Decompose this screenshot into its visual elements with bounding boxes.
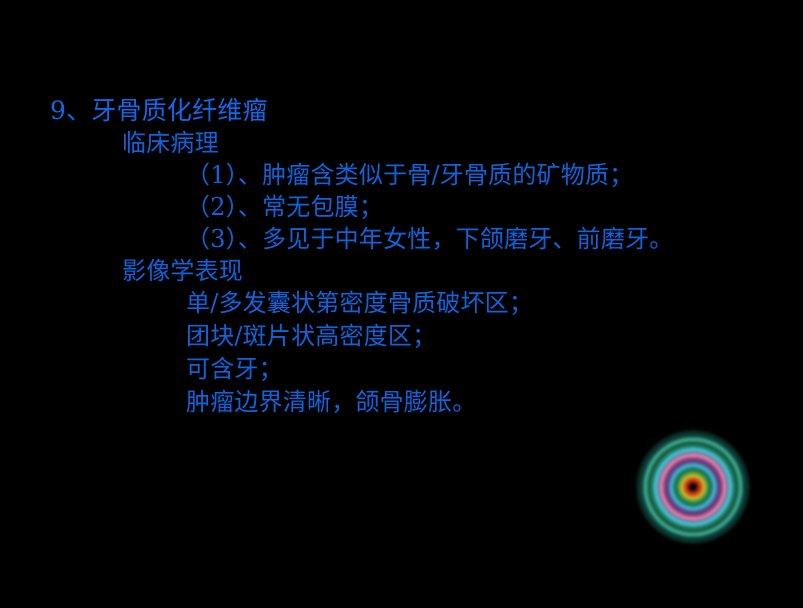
concentric-rings-image — [612, 406, 773, 568]
imaging-finding-3: 可含牙； — [186, 357, 803, 390]
clinical-item-3: （3）、多见于中年女性，下颌磨牙、前磨牙。 — [186, 227, 803, 259]
imaging-finding-2: 团块/斑片状高密度区； — [186, 324, 803, 357]
slide-text-body: 9、牙骨质化纤维瘤 临床病理 （1）、肿瘤含类似于骨/牙骨质的矿物质； （2）、… — [0, 98, 803, 423]
rings-gradient — [612, 406, 773, 568]
clinical-item-2: （2）、常无包膜； — [186, 195, 803, 227]
slide-heading: 9、牙骨质化纤维瘤 — [50, 98, 803, 131]
section-title-imaging-findings: 影像学表现 — [122, 259, 803, 291]
section-title-clinical-pathology: 临床病理 — [122, 131, 803, 163]
imaging-finding-1: 单/多发囊状第密度骨质破坏区； — [186, 291, 803, 324]
slide-canvas: 9、牙骨质化纤维瘤 临床病理 （1）、肿瘤含类似于骨/牙骨质的矿物质； （2）、… — [0, 0, 803, 608]
clinical-item-1: （1）、肿瘤含类似于骨/牙骨质的矿物质； — [186, 163, 803, 195]
